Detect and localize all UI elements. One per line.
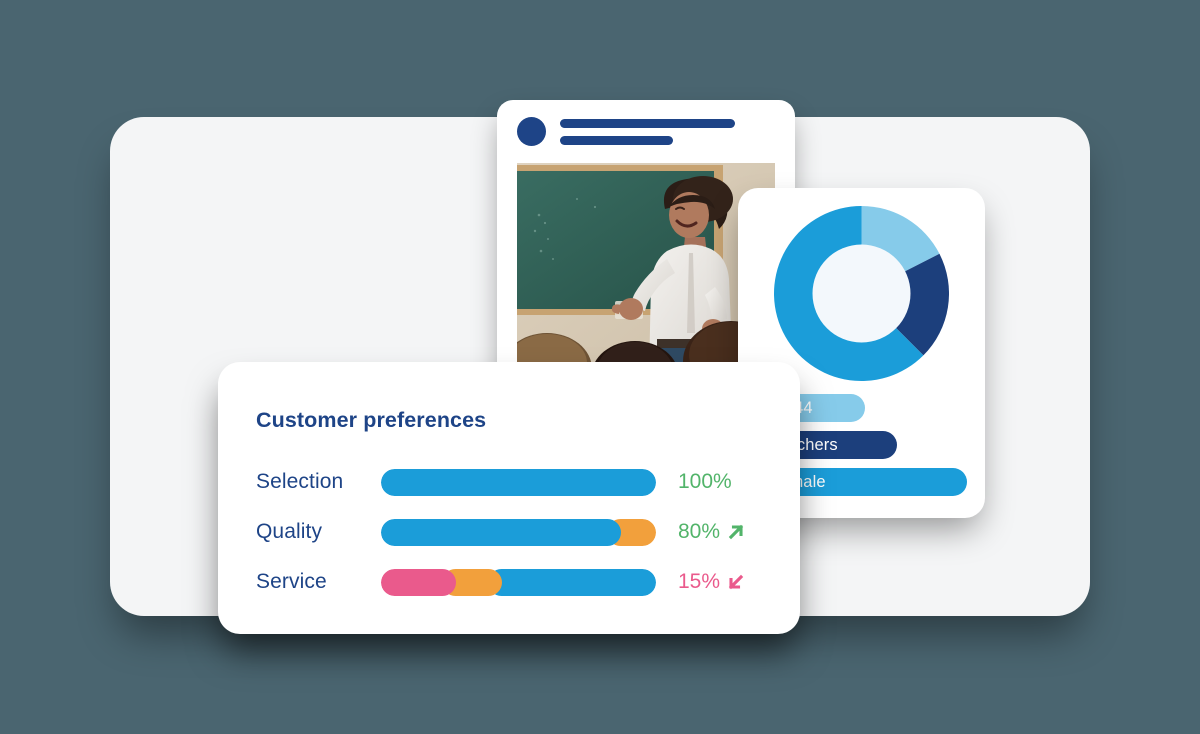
page-title: Customer preferences [256, 408, 486, 433]
illustration-stage: 35-44 Teachers Female Customer preferenc… [0, 0, 1200, 734]
placeholder-line-long [560, 119, 735, 128]
trend-down-icon [727, 573, 745, 591]
preference-row-value-text: 80% [678, 520, 720, 544]
classroom-photo [517, 163, 775, 375]
preference-row-value-text: 100% [678, 470, 732, 494]
donut-hole [813, 245, 911, 343]
customer-preferences-card[interactable]: Customer preferences Selection100%Qualit… [218, 362, 800, 634]
preference-row-label: Selection [256, 470, 381, 494]
preference-row-value: 80% [678, 520, 745, 544]
preference-row: Selection100% [256, 457, 800, 507]
preference-row-label: Quality [256, 520, 381, 544]
preferences-bar-list: Selection100%Quality80% Service15% [256, 457, 800, 607]
placeholder-line-short [560, 136, 673, 145]
donut-chart [774, 206, 949, 381]
preference-bar[interactable] [381, 519, 656, 546]
preference-row-label: Service [256, 570, 381, 594]
post-card-header [497, 100, 795, 163]
preference-row: Service15% [256, 557, 800, 607]
trend-up-icon [727, 523, 745, 541]
preference-bar-segment [381, 469, 656, 496]
preference-row: Quality80% [256, 507, 800, 557]
preference-bar[interactable] [381, 469, 656, 496]
avatar-circle-icon [517, 117, 546, 146]
preference-row-value-text: 15% [678, 570, 720, 594]
preference-row-value: 15% [678, 570, 745, 594]
preference-bar-segment [488, 569, 656, 596]
preference-bar-segment [381, 569, 456, 596]
preference-bar-segment [381, 519, 621, 546]
post-title-placeholder [560, 119, 735, 145]
preference-bar[interactable] [381, 569, 656, 596]
preference-row-value: 100% [678, 470, 732, 494]
